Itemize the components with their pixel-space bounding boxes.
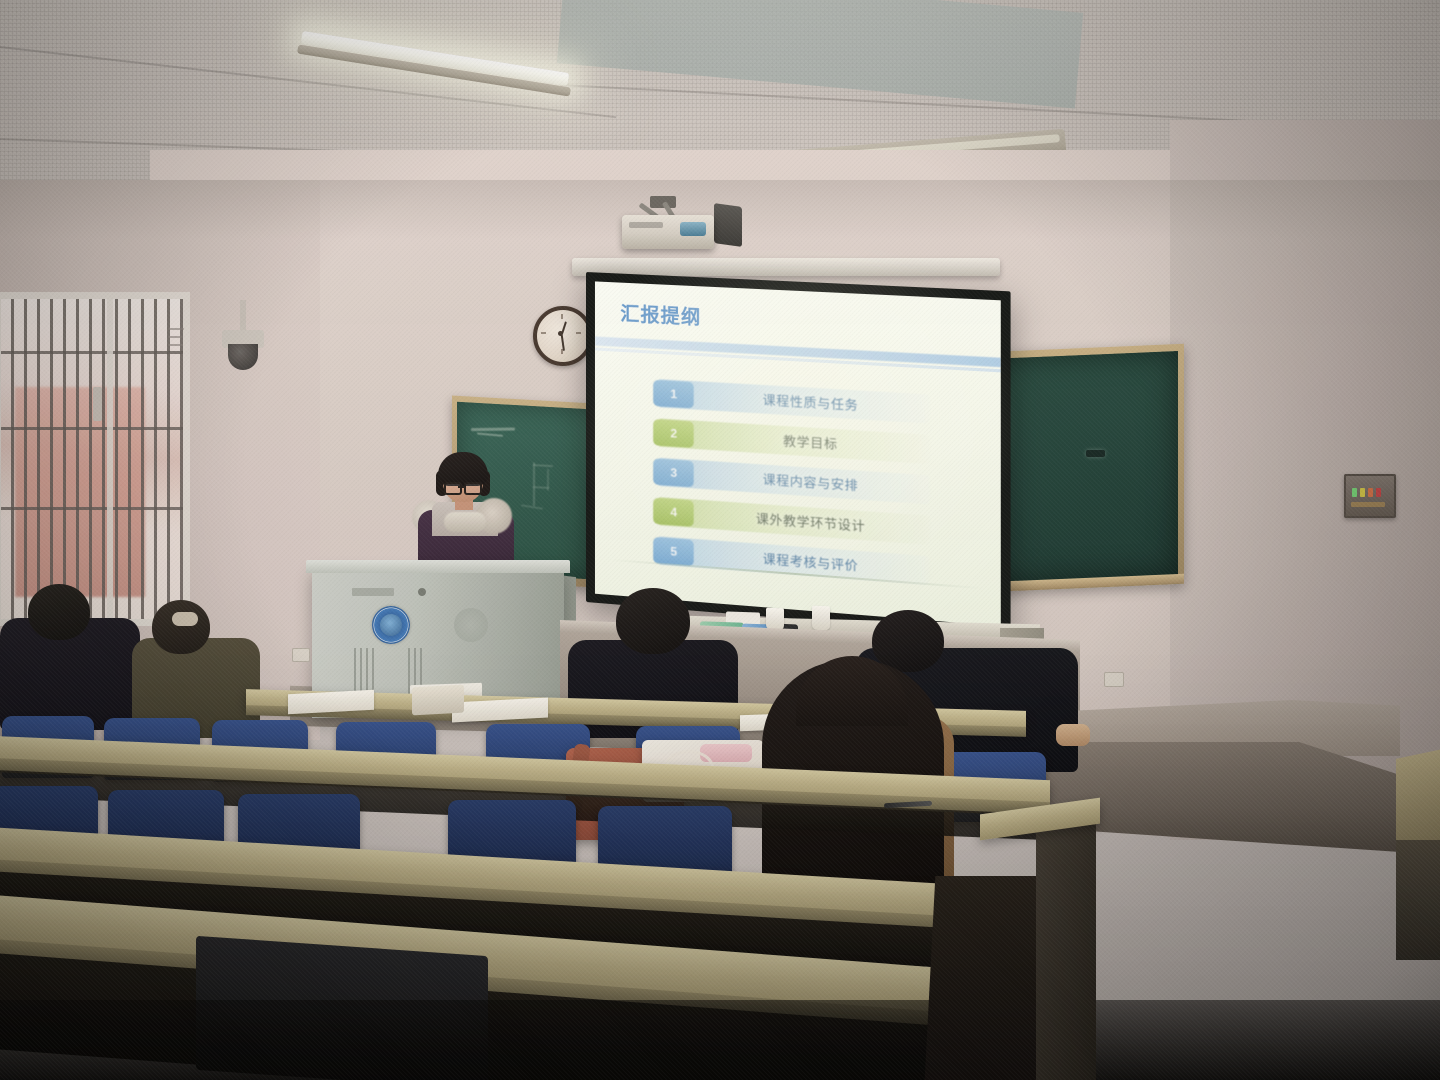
attendee-back-left-olive-head — [152, 600, 210, 654]
university-emblem-inner — [380, 614, 402, 636]
ceiling-speaker — [714, 203, 742, 247]
slide-item-1: 1 课程性质与任务 — [658, 379, 930, 423]
slide-item-number: 3 — [654, 458, 695, 487]
wall-clock — [533, 306, 593, 366]
slide-item-5: 5 课程考核与评价 — [658, 536, 930, 585]
lectern-top-surface — [306, 560, 570, 573]
attendee-back-left-dark-head — [28, 584, 90, 640]
lectern-label-plate — [352, 588, 394, 596]
projection-screen[interactable]: 汇报提纲 1 课程性质与任务 2 教学目标 3 课程内容与安排 4 课外教学环节… — [586, 272, 1011, 636]
slide-item-4: 4 课外教学环节设计 — [658, 497, 930, 545]
lectern-speaker — [454, 608, 488, 642]
slide-item-3: 3 课程内容与安排 — [658, 457, 930, 504]
presenter-glasses — [464, 482, 482, 495]
foreground-shadow — [0, 1000, 1440, 1080]
blackboard-right — [990, 351, 1178, 583]
lectern-control-button[interactable] — [418, 588, 426, 596]
slide-title: 汇报提纲 — [620, 298, 701, 329]
slide-item-number: 4 — [654, 497, 695, 526]
attendee-right-hand — [1056, 724, 1090, 746]
hair-tie — [172, 612, 198, 626]
university-emblem — [372, 606, 410, 644]
window-latch — [93, 387, 102, 421]
slide-item-label: 课外教学环节设计 — [694, 504, 929, 540]
slide-item-label: 教学目标 — [694, 425, 929, 459]
desk-right-column — [1036, 818, 1096, 1080]
presenter-fur-collar-center — [444, 512, 486, 532]
window-security-bars — [1, 299, 183, 619]
wall-outlet — [292, 648, 310, 662]
slide-item-label: 课程内容与安排 — [694, 464, 929, 499]
security-camera-mount — [240, 300, 246, 334]
classroom-scene: 汇报提纲 1 课程性质与任务 2 教学目标 3 课程内容与安排 4 课外教学环节… — [0, 0, 1440, 1080]
wall-vent-line — [168, 336, 182, 338]
paper-cup — [766, 608, 784, 631]
wall-outlet — [1104, 672, 1124, 687]
wall-vent-line — [168, 344, 183, 346]
projector-lens — [680, 222, 706, 236]
presenter-glasses — [444, 482, 462, 495]
slide-item-number: 1 — [654, 379, 695, 408]
desk-far-right-leg — [1396, 840, 1440, 960]
blackboard-right-frame — [984, 344, 1184, 592]
projector-vent — [629, 222, 663, 228]
barred-window — [0, 292, 190, 626]
wall-vent-line — [168, 328, 184, 330]
slide-item-2: 2 教学目标 — [658, 418, 930, 464]
presenter-glasses-bridge — [458, 486, 464, 488]
folder-on-desk — [412, 685, 464, 716]
electrical-panel[interactable] — [1344, 474, 1396, 518]
presentation-slide: 汇报提纲 1 课程性质与任务 2 教学目标 3 课程内容与安排 4 课外教学环节… — [595, 281, 1001, 626]
clock-center — [558, 331, 563, 336]
screen-surface: 汇报提纲 1 课程性质与任务 2 教学目标 3 课程内容与安排 4 课外教学环节… — [595, 281, 1001, 626]
attendee-center-black-head — [616, 588, 690, 654]
slide-item-number: 2 — [654, 419, 695, 448]
slide-item-label: 课程性质与任务 — [694, 385, 929, 418]
paper-cup — [812, 606, 830, 631]
blackboard-eraser — [1086, 450, 1105, 457]
